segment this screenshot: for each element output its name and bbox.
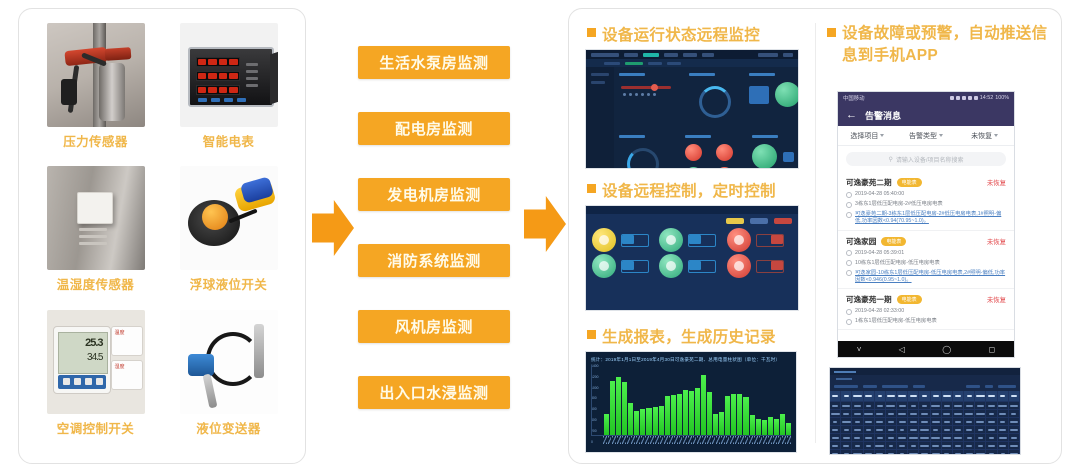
bullet-square-icon — [587, 28, 596, 37]
alarm-detail-row: 可逸豪苑二期-3栋东1层低压配电房-2#低压电房电表,1#照明-偏低,功率因数<… — [846, 211, 1006, 225]
search-input[interactable]: ⚲ 请输入设备/项目名称搜索 — [846, 152, 1006, 166]
list-item[interactable]: 可逸豪苑二期 电能表 未恢复 2019-04-28 05:40:00 3栋东1层… — [838, 172, 1014, 231]
chart-bar — [786, 423, 791, 436]
heading-text: 生成报表，生成历史记录 — [602, 325, 776, 347]
scenario-chip-water-pump-room[interactable]: 生活水泵房监测 — [358, 46, 510, 79]
table-cell — [852, 402, 863, 409]
table-cell — [864, 426, 875, 433]
chart-bar — [634, 411, 639, 435]
table-cell — [841, 402, 852, 409]
table-row — [830, 410, 1020, 418]
table-cell — [931, 426, 942, 433]
chart-x-tick — [612, 436, 616, 444]
table-cell — [931, 410, 942, 417]
phone-filter-bar: 选择项目 告警类型 未恢复 — [838, 126, 1014, 146]
chart-x-tick — [669, 436, 673, 444]
table-cell — [1009, 391, 1020, 401]
product-card: 液位变送器 — [162, 310, 295, 453]
heading-remote-control: 设备远程控制，定时控制 — [587, 179, 776, 201]
table-cell — [886, 434, 897, 441]
status-badge: 电能表 — [897, 178, 922, 187]
chart-x-tick — [645, 436, 649, 444]
chart-bar — [756, 419, 761, 436]
chart-bar — [640, 409, 645, 435]
table-cell — [1009, 450, 1020, 455]
table-cell — [919, 418, 930, 425]
table-cell — [875, 426, 886, 433]
chart-bar — [622, 382, 627, 436]
table-cell — [908, 418, 919, 425]
table-cell — [998, 450, 1009, 455]
chart-bar — [610, 381, 615, 435]
table-cell — [953, 418, 964, 425]
chart-bar — [768, 417, 773, 435]
table-cell — [886, 391, 897, 401]
chart-x-tick — [603, 436, 607, 444]
chart-x-tick — [726, 436, 730, 444]
recents-icon[interactable]: ◻ — [989, 345, 996, 354]
table-cell — [998, 434, 1009, 441]
chart-x-tick — [749, 436, 753, 444]
chart-x-tick — [712, 436, 716, 444]
table-cell — [931, 418, 942, 425]
product-caption: 压力传感器 — [63, 131, 128, 150]
scenario-chip-generator-room[interactable]: 发电机房监测 — [358, 178, 510, 211]
table-cell — [830, 402, 841, 409]
table-cell — [986, 442, 997, 449]
table-cell — [852, 410, 863, 417]
table-cell — [875, 391, 886, 401]
filter-status[interactable]: 未恢复 — [955, 126, 1014, 145]
table-cell — [908, 442, 919, 449]
table-cell — [931, 434, 942, 441]
chart-x-tick — [622, 436, 626, 444]
chart-bar — [743, 397, 748, 435]
table-cell — [852, 426, 863, 433]
table-cell — [998, 402, 1009, 409]
table-cell — [942, 450, 953, 455]
table-cell — [942, 434, 953, 441]
alarm-device-row: 10栋东1层低压配电房-低压电房电表 — [846, 260, 1006, 267]
table-cell — [864, 402, 875, 409]
table-cell — [998, 442, 1009, 449]
chart-x-tick — [679, 436, 683, 444]
chart-y-tick: 0 — [591, 441, 602, 444]
table-cell — [942, 410, 953, 417]
product-card: 智能电表 — [162, 23, 295, 166]
filter-alarm-type[interactable]: 告警类型 — [897, 126, 956, 145]
mobile-app-alarm-screenshot[interactable]: 中国移动 14:52 100% ← 告警消息 选择项目 告警类型 — [837, 91, 1015, 358]
scenario-chip-power-distribution-room[interactable]: 配电房监测 — [358, 112, 510, 145]
table-cell — [942, 402, 953, 409]
chart-x-tick — [617, 436, 621, 444]
table-cell — [953, 442, 964, 449]
alarm-time: 2019-04-28 02:33:00 — [855, 308, 1006, 315]
table-cell — [897, 418, 908, 425]
air-conditioner-controller-photo: 25.334.5 温度 湿度 — [47, 310, 145, 414]
product-caption: 液位变送器 — [196, 418, 261, 437]
table-cell — [986, 450, 997, 455]
chart-x-tick — [697, 436, 701, 444]
chart-x-tick — [745, 436, 749, 444]
table-cell — [964, 442, 975, 449]
table-cell — [919, 450, 930, 455]
list-item[interactable]: 可逸家园 电能表 未恢复 2019-04-28 05:39:01 10栋东1层低… — [838, 231, 1014, 290]
alarm-project: 可逸豪苑一期 — [846, 294, 892, 305]
table-cell — [964, 391, 975, 401]
table-cell — [919, 402, 930, 409]
table-cell — [875, 434, 886, 441]
table-cell — [886, 410, 897, 417]
chevron-down-icon — [939, 134, 943, 137]
table-cell — [975, 434, 986, 441]
table-cell — [975, 410, 986, 417]
list-item[interactable]: 可逸豪苑一期 电能表 未恢复 2019-04-28 02:33:00 1栋东1层… — [838, 289, 1014, 330]
chart-plot-area — [591, 365, 791, 436]
table-row — [830, 450, 1020, 455]
table-cell — [830, 391, 841, 401]
table-cell — [953, 426, 964, 433]
search-icon: ⚲ — [888, 156, 892, 163]
table-cell — [1009, 410, 1020, 417]
table-cell — [998, 426, 1009, 433]
table-cell — [841, 434, 852, 441]
table-cell — [953, 410, 964, 417]
info-icon — [846, 212, 852, 218]
table-cell — [942, 442, 953, 449]
product-caption: 浮球液位开关 — [190, 274, 267, 293]
table-cell — [841, 410, 852, 417]
alarm-detail: 可逸豪苑二期-3栋东1层低压配电房-2#低压电房电表,1#照明-偏低,功率因数<… — [855, 211, 1006, 225]
alarm-state: 未恢复 — [987, 237, 1006, 246]
alarm-device-row: 3栋东1层低压配电房-2#低压电房电表 — [846, 201, 1006, 208]
chart-bar — [719, 412, 724, 436]
table-cell — [964, 434, 975, 441]
temperature-humidity-sensor-photo — [47, 166, 145, 270]
pressure-sensor-photo — [47, 23, 145, 127]
table-row — [830, 426, 1020, 434]
phone-status-bar: 中国移动 14:52 100% — [838, 92, 1014, 104]
product-caption: 温湿度传感器 — [57, 274, 134, 293]
chart-x-tick — [641, 436, 645, 444]
chart-x-axis — [591, 436, 791, 444]
chart-x-tick — [716, 436, 720, 444]
chart-bar — [774, 419, 779, 436]
table-cell — [908, 450, 919, 455]
table-cell — [919, 426, 930, 433]
table-cell — [864, 418, 875, 425]
table-cell — [864, 410, 875, 417]
heading-push-alarm: 设备故障或预警，自动推送信息到手机APP — [827, 23, 1052, 68]
chart-bar — [731, 394, 736, 435]
table-cell — [886, 418, 897, 425]
table-header-row — [830, 391, 1020, 402]
android-navigation-bar: ˅ ◁ ◯ ◻ — [838, 341, 1014, 357]
chart-bar — [677, 394, 682, 435]
table-cell — [986, 402, 997, 409]
alarm-state: 未恢复 — [987, 295, 1006, 304]
heading-reports: 生成报表，生成历史记录 — [587, 325, 776, 347]
table-cell — [897, 402, 908, 409]
chart-bar — [695, 388, 700, 435]
chart-bar — [737, 394, 742, 436]
table-cell — [953, 450, 964, 455]
status-badge: 电能表 — [897, 295, 922, 304]
status-badge: 电能表 — [881, 237, 906, 246]
filter-label: 选择项目 — [850, 131, 878, 141]
filter-project[interactable]: 选择项目 — [838, 126, 897, 145]
table-cell — [975, 442, 986, 449]
scenario-chip-fan-room[interactable]: 风机房监测 — [358, 310, 510, 343]
table-row — [830, 402, 1020, 410]
table-cell — [942, 426, 953, 433]
table-cell — [908, 391, 919, 401]
chart-x-tick — [740, 436, 744, 444]
alarm-time: 2019-04-28 05:39:01 — [855, 250, 1006, 257]
table-cell — [1009, 402, 1020, 409]
table-cell — [908, 434, 919, 441]
chart-x-tick — [773, 436, 777, 444]
table-cell — [998, 391, 1009, 401]
table-cell — [942, 391, 953, 401]
table-cell — [998, 410, 1009, 417]
product-caption: 智能电表 — [203, 131, 255, 150]
chart-bar — [713, 414, 718, 436]
chart-x-tick — [664, 436, 668, 444]
table-cell — [897, 434, 908, 441]
table-cell — [875, 402, 886, 409]
table-cell — [830, 434, 841, 441]
table-cell — [964, 410, 975, 417]
clock-icon — [846, 250, 852, 256]
table-body — [830, 391, 1020, 455]
device-icon — [846, 202, 852, 208]
table-cell — [1009, 426, 1020, 433]
table-cell — [852, 442, 863, 449]
table-cell — [841, 418, 852, 425]
power-consumption-bar-chart[interactable]: 统计：2019年1月1日至2019年4月30日可逸豪苑二期、总用电量柱状图（单位… — [585, 351, 797, 453]
back-icon[interactable]: ◁ — [899, 345, 905, 354]
table-cell — [919, 391, 930, 401]
home-icon[interactable]: ◯ — [942, 345, 951, 354]
table-cell — [931, 391, 942, 401]
table-cell — [875, 410, 886, 417]
table-cell — [908, 426, 919, 433]
table-row — [830, 418, 1020, 426]
carrier-label: 中国移动 — [843, 94, 865, 102]
chart-x-tick — [763, 436, 767, 444]
chart-x-tick — [735, 436, 739, 444]
infographic-canvas: 压力传感器 智能电表 — [0, 0, 1080, 474]
chart-bar — [725, 396, 730, 436]
product-caption: 空调控制开关 — [57, 418, 134, 437]
table-cell — [830, 442, 841, 449]
chart-x-tick — [707, 436, 711, 444]
chart-x-tick — [782, 436, 786, 444]
chart-bar — [646, 408, 651, 435]
heading-text: 设备远程控制，定时控制 — [602, 179, 776, 201]
arrow-right-icon — [312, 200, 354, 256]
chart-bar — [616, 377, 621, 435]
scenario-chip-entrance-flood[interactable]: 出入口水浸监测 — [358, 376, 510, 409]
alarm-time-row: 2019-04-28 02:33:00 — [846, 308, 1006, 315]
table-cell — [841, 450, 852, 455]
chart-x-tick — [688, 436, 692, 444]
chart-bar — [671, 395, 676, 435]
alarm-project: 可逸家园 — [846, 236, 876, 247]
table-cell — [986, 426, 997, 433]
column-divider — [815, 23, 816, 443]
table-cell — [953, 434, 964, 441]
scenario-chip-fire-system[interactable]: 消防系统监测 — [358, 244, 510, 277]
phone-nav-bar: ← 告警消息 — [838, 104, 1014, 126]
table-cell — [864, 450, 875, 455]
product-card: 浮球液位开关 — [162, 166, 295, 309]
phone-page-title: 告警消息 — [865, 109, 901, 122]
equipment-status-dashboard-screenshot[interactable] — [585, 49, 799, 169]
chart-x-tick — [721, 436, 725, 444]
chart-bar — [750, 415, 755, 435]
alarm-device-row: 1栋东1层低压配电房-低压电房电表 — [846, 318, 1006, 325]
clock-icon — [846, 192, 852, 198]
heading-text: 设备故障或预警，自动推送信息到手机APP — [842, 23, 1052, 68]
chart-x-tick — [768, 436, 772, 444]
chart-x-tick — [787, 436, 791, 444]
table-cell — [919, 442, 930, 449]
clock-icon — [846, 309, 852, 315]
table-cell — [875, 450, 886, 455]
table-cell — [897, 426, 908, 433]
alarm-device: 10栋东1层低压配电房-低压电房电表 — [855, 260, 1006, 267]
device-icon — [846, 260, 852, 266]
chart-x-tick — [655, 436, 659, 444]
chart-x-tick — [702, 436, 706, 444]
history-record-table-screenshot[interactable] — [829, 367, 1021, 455]
table-row — [830, 434, 1020, 442]
chevron-down-icon — [994, 134, 998, 137]
table-cell — [964, 450, 975, 455]
table-cell — [931, 442, 942, 449]
table-cell — [975, 418, 986, 425]
back-arrow-icon[interactable]: ← — [846, 110, 857, 121]
platform-capabilities-panel: 设备运行状态远程监控 设备故障或预警，自动推送信息到手机APP 设备远程控制，定… — [568, 8, 1062, 464]
table-cell — [841, 391, 852, 401]
chart-x-tick — [778, 436, 782, 444]
product-card: 压力传感器 — [29, 23, 162, 166]
table-cell — [986, 418, 997, 425]
table-cell — [964, 426, 975, 433]
chart-bar — [683, 390, 688, 435]
table-cell — [886, 426, 897, 433]
chart-bar — [701, 375, 706, 435]
search-placeholder: 请输入设备/项目名称搜索 — [896, 155, 964, 164]
table-cell — [919, 434, 930, 441]
table-cell — [852, 434, 863, 441]
arrow-right-icon — [524, 196, 566, 252]
bullet-square-icon — [827, 28, 836, 37]
table-cell — [986, 410, 997, 417]
chart-x-tick — [759, 436, 763, 444]
alarm-device: 1栋东1层低压配电房-低压电房电表 — [855, 318, 1006, 325]
table-cell — [852, 450, 863, 455]
table-cell — [830, 410, 841, 417]
smart-meter-photo — [180, 23, 278, 127]
chart-bar — [628, 403, 633, 435]
table-cell — [975, 450, 986, 455]
table-cell — [953, 391, 964, 401]
table-cell — [964, 418, 975, 425]
equipment-remote-control-screenshot[interactable] — [585, 205, 799, 311]
table-cell — [886, 442, 897, 449]
table-cell — [852, 391, 863, 401]
table-row — [830, 442, 1020, 450]
chart-x-tick — [730, 436, 734, 444]
table-cell — [897, 410, 908, 417]
table-cell — [975, 426, 986, 433]
chart-x-tick — [693, 436, 697, 444]
table-cell — [908, 410, 919, 417]
table-cell — [942, 418, 953, 425]
table-cell — [931, 450, 942, 455]
table-cell — [830, 426, 841, 433]
chevron-down-icon — [880, 134, 884, 137]
table-cell — [986, 434, 997, 441]
battery-label: 100% — [995, 95, 1009, 101]
table-cell — [830, 418, 841, 425]
alarm-time: 2019-04-28 05:40:00 — [855, 191, 1006, 198]
info-icon — [846, 270, 852, 276]
chart-bar — [653, 407, 658, 435]
table-cell — [852, 418, 863, 425]
chart-bar — [659, 406, 664, 436]
chart-bar — [780, 414, 785, 436]
table-cell — [886, 402, 897, 409]
device-icon — [846, 319, 852, 325]
bullet-square-icon — [587, 330, 596, 339]
chart-x-tick — [683, 436, 687, 444]
table-cell — [986, 391, 997, 401]
collapse-icon[interactable]: ˅ — [857, 345, 862, 354]
table-cell — [919, 410, 930, 417]
chart-x-tick — [636, 436, 640, 444]
alarm-detail: 可逸家园-10栋东1层低压配电房-低压电房电表,2#照明-偏低,功率因数<0.9… — [855, 270, 1006, 284]
table-cell — [1009, 434, 1020, 441]
product-card: 温湿度传感器 — [29, 166, 162, 309]
table-cell — [975, 402, 986, 409]
table-cell — [864, 442, 875, 449]
chart-x-tick — [754, 436, 758, 444]
table-cell — [864, 391, 875, 401]
chart-x-tick — [631, 436, 635, 444]
bullet-square-icon — [587, 184, 596, 193]
table-cell — [897, 450, 908, 455]
table-cell — [908, 402, 919, 409]
product-card: 25.334.5 温度 湿度 空调控制开关 — [29, 310, 162, 453]
chart-x-tick — [674, 436, 678, 444]
table-cell — [975, 391, 986, 401]
monitoring-scenarios-list: 生活水泵房监测 配电房监测 发电机房监测 消防系统监测 风机房监测 出入口水浸监… — [358, 8, 518, 464]
chart-bar — [707, 392, 712, 435]
chart-x-tick — [650, 436, 654, 444]
chart-bar — [665, 396, 670, 435]
table-cell — [1009, 442, 1020, 449]
chart-bar — [689, 391, 694, 435]
alarm-detail-row: 可逸家园-10栋东1层低压配电房-低压电房电表,2#照明-偏低,功率因数<0.9… — [846, 270, 1006, 284]
chart-x-tick — [608, 436, 612, 444]
level-transmitter-photo — [180, 310, 278, 414]
table-cell — [875, 418, 886, 425]
alarm-project: 可逸豪苑二期 — [846, 177, 892, 188]
